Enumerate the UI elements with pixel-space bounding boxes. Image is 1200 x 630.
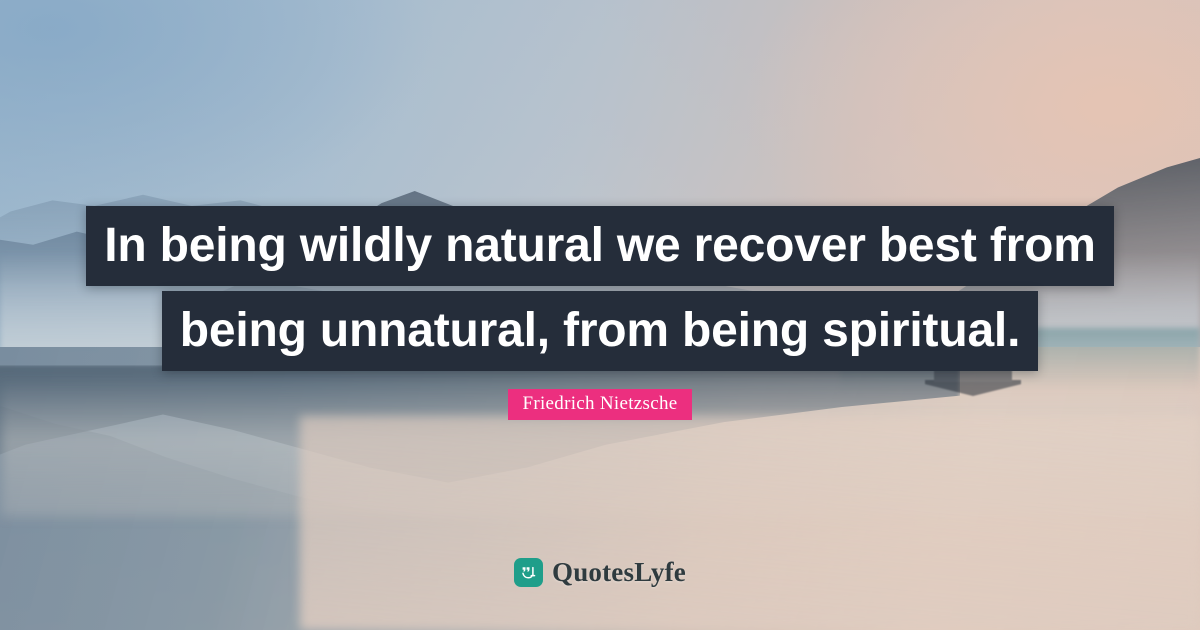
shore-glow (300, 416, 1200, 630)
quote-author-wrap: Friedrich Nietzsche (0, 389, 1200, 420)
quote-smiley-icon (514, 558, 543, 587)
quote-card: In being wildly natural we recover best … (0, 0, 1200, 630)
brand-name: QuotesLyfe (552, 557, 686, 588)
brand-logo[interactable]: QuotesLyfe (0, 557, 1200, 588)
quote-line-1: In being wildly natural we recover best … (86, 206, 1113, 286)
quote-text-block: In being wildly natural we recover best … (0, 206, 1200, 371)
quote-line-2: being unnatural, from being spiritual. (162, 291, 1038, 371)
quote-author-badge[interactable]: Friedrich Nietzsche (508, 389, 691, 420)
